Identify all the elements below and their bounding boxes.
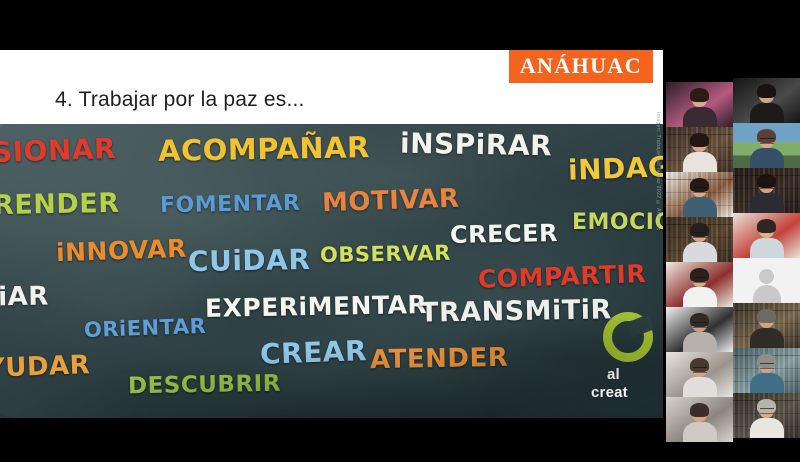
participant-figure xyxy=(750,356,784,393)
participant-tile-12[interactable] xyxy=(733,303,800,348)
participant-tile-15[interactable] xyxy=(666,397,733,442)
slide-header: 4. Trabajar por la paz es... ANÁHUAC xyxy=(0,50,663,124)
word-cloud-chalkboard: al creat SIONARACOMPAÑARiNSPiRARiNDAGREN… xyxy=(0,124,663,418)
participant-tile-11[interactable] xyxy=(666,307,733,352)
participant-figure xyxy=(750,311,784,348)
word-cloud-item: JiAR xyxy=(0,281,49,312)
participant-tile-1[interactable] xyxy=(666,82,733,127)
logo-line-1: al xyxy=(607,366,620,383)
participant-figure xyxy=(683,90,717,127)
participant-figure xyxy=(750,176,784,213)
word-cloud-item: iNNOVAR xyxy=(56,234,188,268)
word-cloud-item: OBSERVAR xyxy=(320,241,451,267)
shared-slide[interactable]: 4. Trabajar por la paz es... ANÁHUAC al … xyxy=(0,50,663,418)
word-cloud-item: TRANSMiTiR xyxy=(420,294,612,328)
participant-figure xyxy=(683,360,717,397)
word-cloud-item: RENDER xyxy=(0,188,120,221)
participant-figure xyxy=(683,270,717,307)
participant-figure xyxy=(750,131,784,168)
participant-tile-3[interactable] xyxy=(666,127,733,172)
participant-filmstrip[interactable] xyxy=(666,0,800,462)
participant-tile-4[interactable] xyxy=(733,123,800,168)
word-cloud-item: MOTIVAR xyxy=(322,184,460,219)
word-cloud-item: CREAR xyxy=(259,334,367,371)
word-cloud-item: iNDAG xyxy=(567,150,663,187)
word-cloud-item: FOMENTAR xyxy=(160,191,301,218)
word-cloud-item: COMPARTIR xyxy=(478,259,647,294)
participant-tile-10[interactable] xyxy=(733,258,800,303)
participant-tile-16[interactable] xyxy=(733,393,800,438)
participant-figure xyxy=(683,180,717,217)
logo-ring-icon xyxy=(603,312,653,362)
participant-tile-9[interactable] xyxy=(666,262,733,307)
participant-tile-14[interactable] xyxy=(733,348,800,393)
word-cloud-item: CRECER xyxy=(450,219,558,249)
logo-line-2: creat xyxy=(591,384,628,401)
screen-root: 4. Trabajar por la paz es... ANÁHUAC al … xyxy=(0,0,800,462)
creative-circle-logo: al creat xyxy=(589,310,663,414)
word-cloud-item: ATENDER xyxy=(370,343,509,375)
word-cloud-item: DESCUBRIR xyxy=(128,371,281,400)
word-cloud-item: EXPERiMENTAR xyxy=(205,290,428,323)
participant-figure xyxy=(683,405,717,442)
participant-tile-13[interactable] xyxy=(666,352,733,397)
word-cloud-item: CUiDAR xyxy=(188,243,311,278)
avatar-placeholder-icon xyxy=(733,258,800,303)
participant-figure xyxy=(683,315,717,352)
word-cloud-item: ORiENTAR xyxy=(84,314,207,342)
word-cloud-item: ACOMPAÑAR xyxy=(158,130,370,168)
participant-tile-7[interactable] xyxy=(666,217,733,262)
word-cloud-item: YUDAR xyxy=(0,350,91,384)
word-cloud-item: iNSPiRAR xyxy=(400,127,553,163)
participant-figure xyxy=(750,401,784,438)
participant-figure xyxy=(750,86,784,123)
participant-figure xyxy=(683,135,717,172)
anahuac-logo: ANÁHUAC xyxy=(509,50,653,83)
participant-tile-2[interactable] xyxy=(733,78,800,123)
word-cloud-item: SIONAR xyxy=(0,132,117,169)
participant-tile-5[interactable] xyxy=(666,172,733,217)
participant-figure xyxy=(683,225,717,262)
slide-title: 4. Trabajar por la paz es... xyxy=(55,88,305,112)
participant-tile-6[interactable] xyxy=(733,168,800,213)
participant-tile-8[interactable] xyxy=(733,213,800,258)
participant-figure xyxy=(750,221,784,258)
word-cloud-item: EMOCIO xyxy=(572,210,663,235)
